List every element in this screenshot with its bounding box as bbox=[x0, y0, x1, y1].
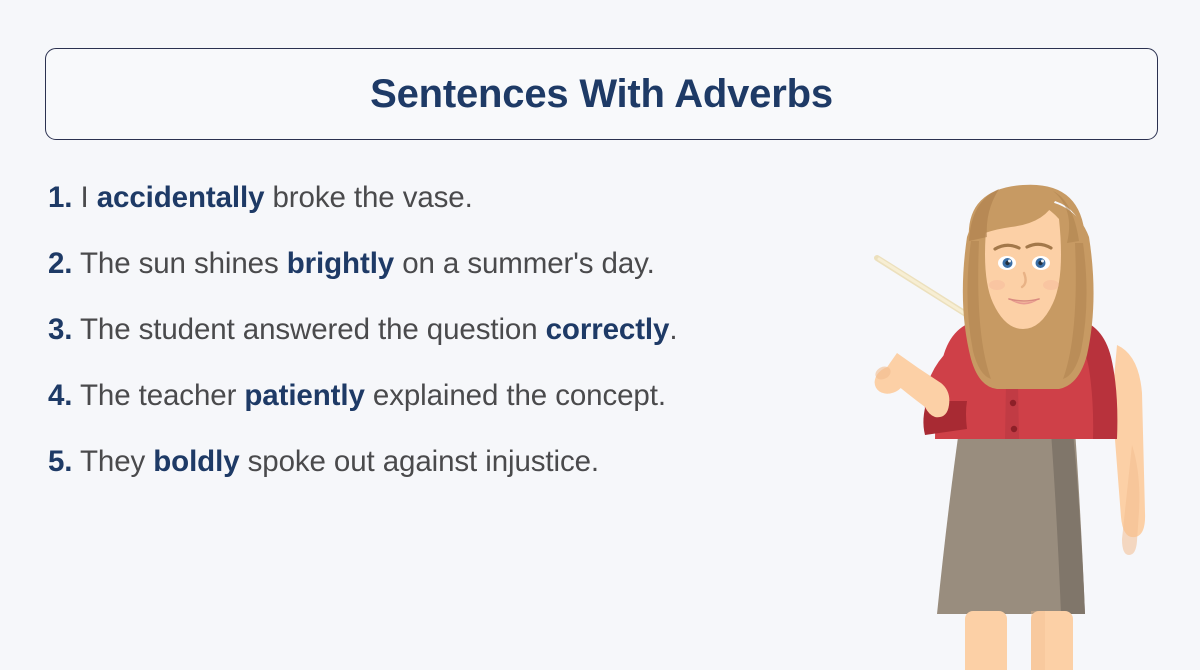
adverb-highlight: boldly bbox=[153, 445, 239, 478]
item-number: 4. bbox=[48, 379, 72, 412]
item-text-after: on a summer's day. bbox=[394, 247, 655, 280]
adverb-highlight: brightly bbox=[287, 247, 394, 280]
page-title: Sentences With Adverbs bbox=[370, 72, 833, 117]
item-text-before: The sun shines bbox=[72, 247, 286, 280]
item-text-after: . bbox=[669, 313, 677, 346]
eye-right bbox=[1032, 256, 1050, 270]
item-text-after: spoke out against injustice. bbox=[240, 445, 600, 478]
list-item: 4. The teacher patiently explained the c… bbox=[48, 378, 928, 414]
item-text-before: The student answered the question bbox=[72, 313, 545, 346]
item-number: 1. bbox=[48, 181, 72, 214]
infographic-page: Sentences With Adverbs 1. I accidentally… bbox=[0, 0, 1200, 670]
item-number: 5. bbox=[48, 445, 72, 478]
list-item: 2. The sun shines brightly on a summer's… bbox=[48, 246, 928, 282]
teacher-illustration bbox=[855, 145, 1200, 670]
item-number: 3. bbox=[48, 313, 72, 346]
eye-left bbox=[998, 256, 1016, 270]
item-text-after: broke the vase. bbox=[264, 181, 472, 214]
list-item: 1. I accidentally broke the vase. bbox=[48, 180, 928, 216]
item-number: 2. bbox=[48, 247, 72, 280]
item-text-before: The teacher bbox=[72, 379, 244, 412]
item-text-after: explained the concept. bbox=[365, 379, 666, 412]
list-item: 5. They boldly spoke out against injusti… bbox=[48, 444, 928, 480]
adverb-highlight: accidentally bbox=[97, 181, 265, 214]
item-text-before: They bbox=[72, 445, 153, 478]
adverb-highlight: correctly bbox=[546, 313, 670, 346]
title-box: Sentences With Adverbs bbox=[45, 48, 1158, 140]
item-text-before: I bbox=[72, 181, 96, 214]
sentence-list: 1. I accidentally broke the vase. 2. The… bbox=[48, 180, 928, 480]
list-item: 3. The student answered the question cor… bbox=[48, 312, 928, 348]
adverb-highlight: patiently bbox=[244, 379, 364, 412]
